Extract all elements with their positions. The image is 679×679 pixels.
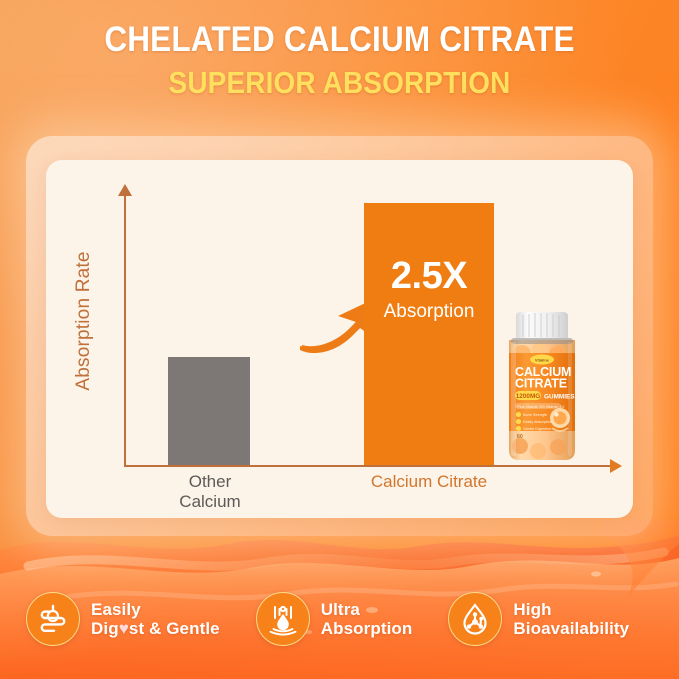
feature-line1: Easily (91, 600, 141, 619)
feature-line1: Ultra (321, 600, 360, 619)
x-axis-arrowhead (610, 459, 622, 473)
feature-line2-after: st & Gentle (129, 619, 220, 638)
feature-line2-before: Dig (91, 619, 119, 638)
feature-line2: Absorption (321, 619, 413, 638)
y-axis-line (124, 192, 126, 467)
bar-value-label: 2.5X (364, 255, 494, 298)
feature-easily-digest[interactable]: Easily Dig♥st & Gentle (26, 592, 220, 646)
svg-text:60: 60 (517, 434, 523, 440)
bar-other-calcium (168, 357, 250, 465)
feature-ultra-absorption[interactable]: Ultra Absorption (256, 592, 413, 646)
svg-text:Bone Strength: Bone Strength (523, 413, 547, 417)
svg-text:Easily Absorption: Easily Absorption (523, 420, 552, 424)
page-title: CHELATED CALCIUM CITRATE (34, 22, 645, 59)
water-drop-icon (256, 592, 310, 646)
svg-text:1200MG: 1200MG (516, 393, 541, 400)
heart-icon: ♥ (119, 619, 129, 638)
bar-calcium-citrate (364, 203, 494, 465)
feature-line1: High (513, 600, 551, 619)
absorption-bar-chart: Absorption Rate 2.5X Absorption Other Ca… (46, 160, 633, 518)
feature-label-ultra-absorption: Ultra Absorption (321, 600, 413, 638)
svg-text:Vitaline: Vitaline (535, 358, 550, 363)
header: CHELATED CALCIUM CITRATE SUPERIOR ABSORP… (0, 22, 679, 99)
intestine-icon (26, 592, 80, 646)
molecule-drop-icon (448, 592, 502, 646)
chart-panel: Absorption Rate 2.5X Absorption Other Ca… (46, 160, 633, 518)
feature-row: Easily Dig♥st & Gentle Ul (0, 583, 679, 655)
svg-text:CITRATE: CITRATE (515, 377, 567, 391)
product-bottle-image: Vitaline CALCIUM CITRATE 1200MG GUMMIES … (498, 310, 586, 466)
page-subtitle: SUPERIOR ABSORPTION (34, 67, 645, 100)
x-tick-calcium-citrate: Calcium Citrate (346, 472, 512, 492)
feature-label-easily-digest: Easily Dig♥st & Gentle (91, 600, 220, 638)
svg-text:Plus Vitamin D3 Vitamin K2: Plus Vitamin D3 Vitamin K2 (517, 404, 564, 409)
y-axis-label: Absorption Rate (73, 221, 95, 421)
feature-line2: Bioavailability (513, 619, 629, 638)
bar-value-sublabel: Absorption (364, 301, 494, 323)
x-tick-other-calcium: Other Calcium (164, 472, 256, 512)
feature-label-high-bioavailability: High Bioavailability (513, 600, 629, 638)
svg-text:Gentle Digestion: Gentle Digestion (523, 427, 551, 431)
feature-high-bioavailability[interactable]: High Bioavailability (448, 592, 629, 646)
